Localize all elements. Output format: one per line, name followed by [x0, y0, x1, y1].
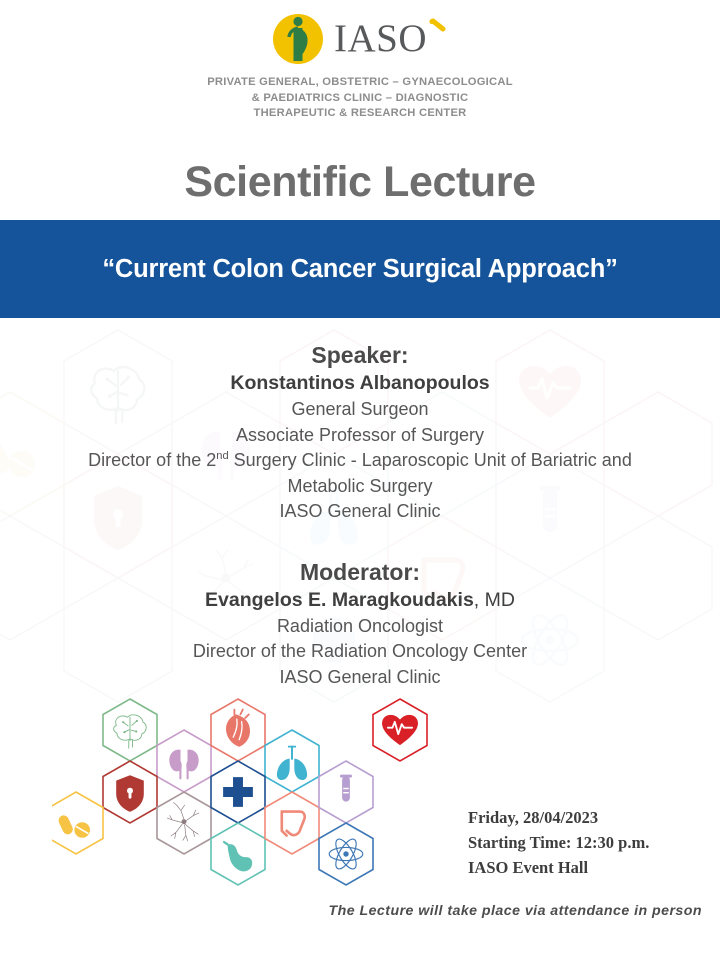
speaker-line-5: IASO General Clinic	[0, 499, 720, 525]
moderator-name: Evangelos E. Maragkoudakis, MD	[0, 587, 720, 614]
iaso-logo: IASO	[0, 8, 720, 70]
event-time: Starting Time: 12:30 p.m.	[468, 830, 649, 855]
iaso-wordmark: IASO	[333, 16, 451, 62]
svg-text:IASO: IASO	[334, 17, 427, 60]
speaker-line-3-a: Director of the 2	[88, 450, 216, 470]
speaker-line-4: Metabolic Surgery	[0, 474, 720, 500]
org-line-1: PRIVATE GENERAL, OBSTETRIC – GYNAECOLOGI…	[0, 75, 720, 91]
moderator-role-heading: Moderator:	[0, 557, 720, 587]
speaker-line-2: Associate Professor of Surgery	[0, 423, 720, 449]
moderator-line-2: Director of the Radiation Oncology Cente…	[0, 639, 720, 665]
speaker-role-heading: Speaker:	[0, 340, 720, 370]
speaker-name: Konstantinos Albanopoulos	[0, 370, 720, 397]
moderator-line-1: Radiation Oncologist	[0, 614, 720, 640]
lecture-poster: IASO PRIVATE GENERAL, OBSTETRIC – GYNAEC…	[0, 0, 720, 960]
moderator-name-suffix: , MD	[474, 589, 515, 611]
event-date: Friday, 28/04/2023	[468, 805, 649, 830]
org-line-3: THERAPEUTIC & RESEARCH CENTER	[0, 106, 720, 122]
event-venue: IASO Event Hall	[468, 855, 649, 880]
ordinal-suffix: nd	[216, 450, 228, 462]
page-title: Scientific Lecture	[0, 158, 720, 207]
org-line-2: & PAEDIATRICS CLINIC – DIAGNOSTIC	[0, 91, 720, 107]
speaker-line-1: General Surgeon	[0, 397, 720, 423]
people-section: Speaker: Konstantinos Albanopoulos Gener…	[0, 340, 720, 690]
moderator-line-3: IASO General Clinic	[0, 665, 720, 691]
poster-header: IASO PRIVATE GENERAL, OBSTETRIC – GYNAEC…	[0, 0, 720, 122]
speaker-line-3: Director of the 2nd Surgery Clinic - Lap…	[0, 448, 720, 474]
speaker-block: Speaker: Konstantinos Albanopoulos Gener…	[0, 340, 720, 525]
medical-hexagon-cluster	[52, 694, 452, 894]
moderator-name-text: Evangelos E. Maragkoudakis	[205, 589, 474, 611]
event-details: Friday, 28/04/2023 Starting Time: 12:30 …	[468, 805, 649, 880]
moderator-block: Moderator: Evangelos E. Maragkoudakis, M…	[0, 557, 720, 691]
speaker-line-3-b: Surgery Clinic - Laparoscopic Unit of Ba…	[229, 450, 632, 470]
attendance-note: The Lecture will take place via attendan…	[0, 903, 720, 919]
organization-subtitle: PRIVATE GENERAL, OBSTETRIC – GYNAECOLOGI…	[0, 75, 720, 122]
iaso-circle-figure-logo	[269, 10, 327, 68]
lecture-title-banner: “Current Colon Cancer Surgical Approach”	[0, 220, 720, 318]
lecture-title: “Current Colon Cancer Surgical Approach”	[102, 255, 617, 284]
